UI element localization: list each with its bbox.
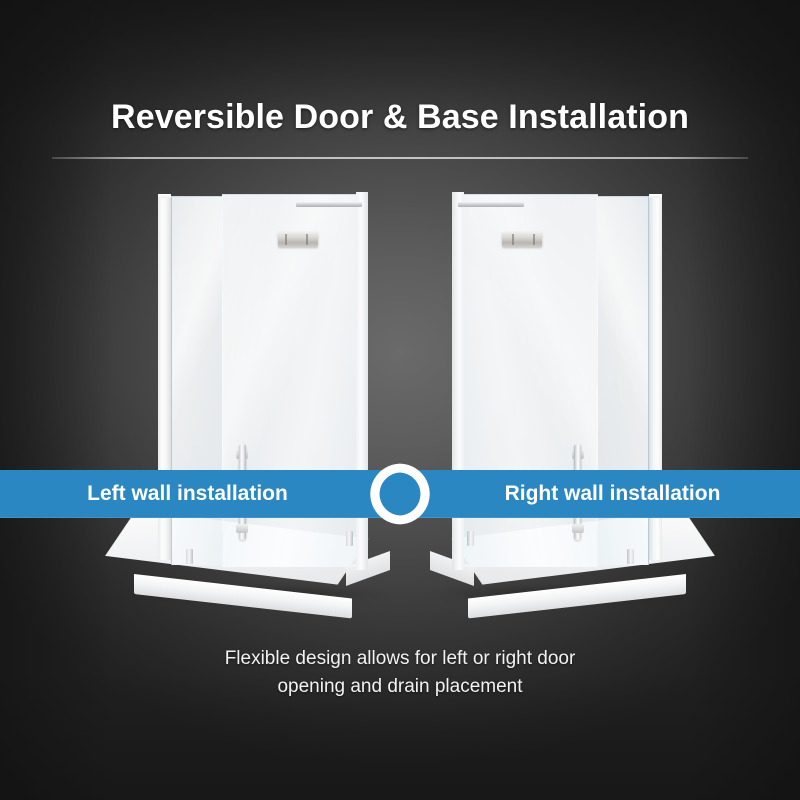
title-divider: [52, 157, 748, 159]
hinge-top-bar: [458, 202, 524, 207]
glass-floor-clip: [186, 549, 193, 564]
caption-text: Flexible design allows for left or right…: [0, 645, 800, 701]
infographic-canvas: Reversible Door & Base Installation: [0, 0, 800, 800]
handle-mount-bottom: [236, 524, 248, 533]
banner-label-left: Left wall installation: [0, 470, 375, 518]
caption-line-2: opening and drain placement: [0, 673, 800, 701]
page-title: Reversible Door & Base Installation: [0, 98, 800, 137]
glass-floor-clip: [467, 531, 474, 546]
hinge-top-bar: [296, 202, 362, 207]
glass-floor-clip: [346, 531, 353, 546]
caption-line-1: Flexible design allows for left or right…: [0, 645, 800, 673]
door-hinge-icon: [502, 232, 542, 247]
handle-mount-bottom: [572, 524, 584, 533]
swap-refresh-icon: [363, 457, 437, 531]
glass-floor-clip: [627, 549, 634, 564]
shower-enclosure-right: [420, 188, 670, 608]
shower-enclosure-left: [150, 188, 400, 608]
door-hinge-icon: [278, 232, 318, 247]
banner-label-right: Right wall installation: [425, 470, 800, 518]
